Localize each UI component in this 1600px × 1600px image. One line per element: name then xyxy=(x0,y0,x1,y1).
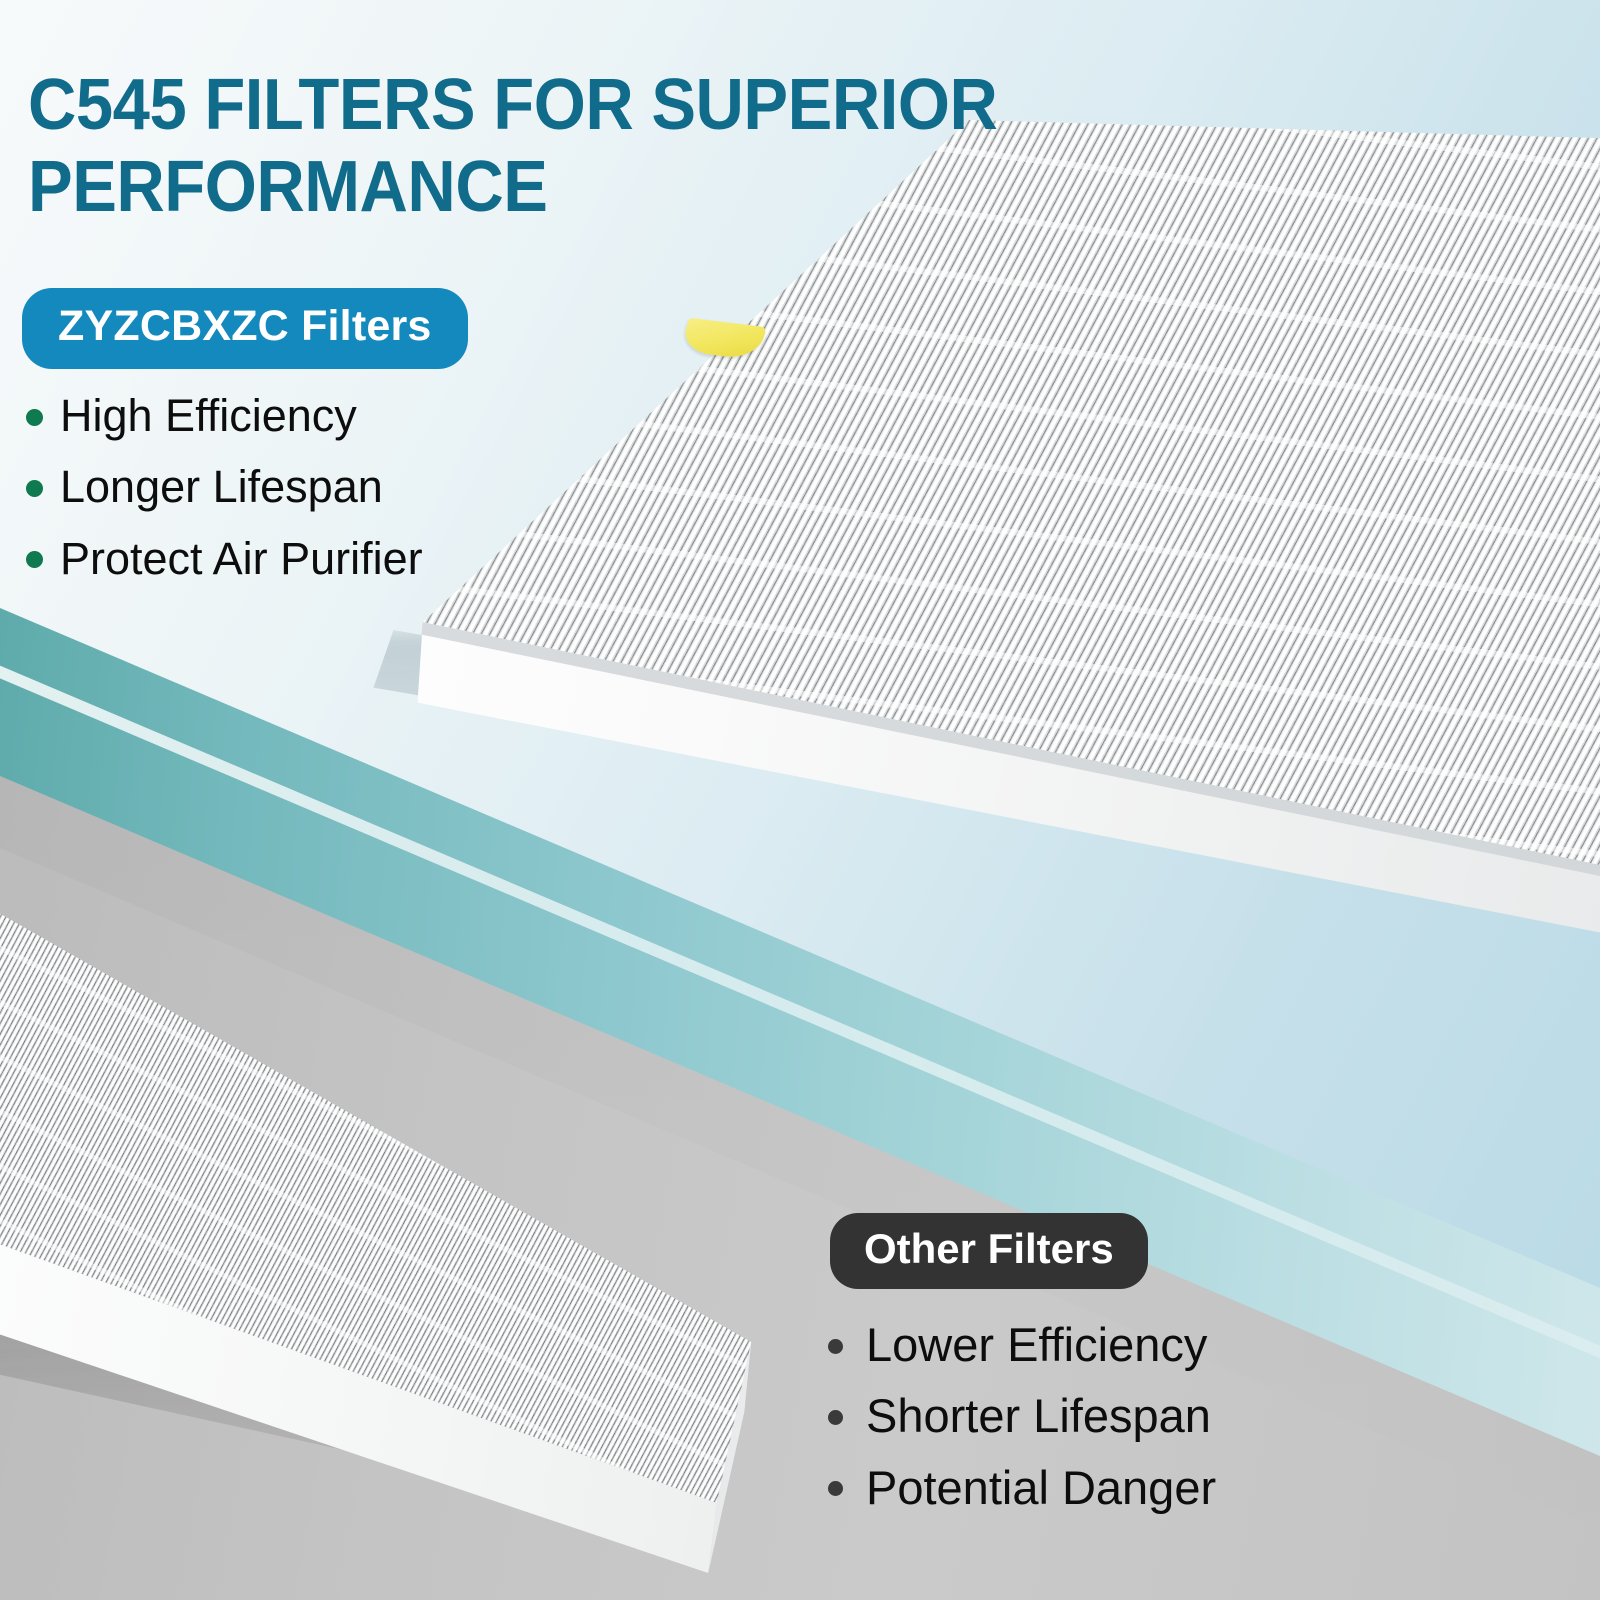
list-item-label: Shorter Lifespan xyxy=(866,1391,1211,1440)
list-item-label: Potential Danger xyxy=(866,1463,1216,1512)
other-filter-drawback-list: Lower Efficiency Shorter Lifespan Potent… xyxy=(828,1320,1216,1534)
product-comparison-graphic: C545 FILTERS FOR SUPERIOR PERFORMANCE ZY… xyxy=(0,0,1600,1600)
list-item: Shorter Lifespan xyxy=(828,1391,1216,1440)
page-title-line-2: PERFORMANCE xyxy=(28,147,547,227)
bullet-dot-icon xyxy=(828,1481,843,1496)
list-item: High Efficiency xyxy=(26,392,423,439)
pleated-media-surface xyxy=(370,120,1600,950)
list-item: Lower Efficiency xyxy=(828,1320,1216,1369)
list-item-label: Protect Air Purifier xyxy=(60,535,423,582)
product-image-other-filter xyxy=(0,880,820,1580)
list-item: Protect Air Purifier xyxy=(26,535,423,582)
list-item-label: Lower Efficiency xyxy=(866,1320,1207,1369)
brand-filter-badge: ZYZCBXZC Filters xyxy=(22,288,468,369)
page-title-line-1: C545 FILTERS FOR SUPERIOR xyxy=(28,65,997,145)
other-filter-badge: Other Filters xyxy=(830,1213,1148,1289)
bullet-dot-icon xyxy=(26,480,43,497)
bullet-dot-icon xyxy=(26,409,43,426)
product-image-zyzcbxzc-filter xyxy=(370,120,1600,950)
brand-filter-benefit-list: High Efficiency Longer Lifespan Protect … xyxy=(26,392,423,606)
page-title: C545 FILTERS FOR SUPERIOR PERFORMANCE xyxy=(28,64,1125,228)
list-item-label: Longer Lifespan xyxy=(60,463,383,510)
pleated-media-surface xyxy=(0,880,820,1580)
bullet-dot-icon xyxy=(828,1339,843,1354)
bullet-dot-icon xyxy=(828,1410,843,1425)
list-item: Potential Danger xyxy=(828,1463,1216,1512)
bullet-dot-icon xyxy=(26,551,43,568)
list-item: Longer Lifespan xyxy=(26,463,423,510)
list-item-label: High Efficiency xyxy=(60,392,357,439)
